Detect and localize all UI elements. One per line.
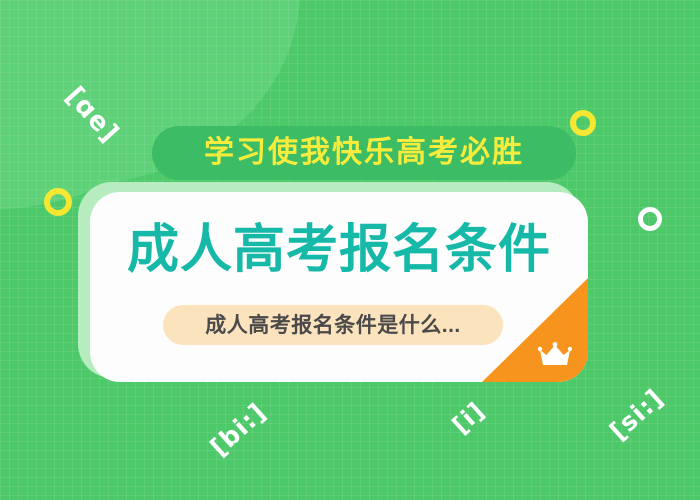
page-title: 成人高考报名条件 bbox=[90, 224, 588, 276]
poster-canvas: [ɑe] [bi:] [i] [si:] 学习使我快乐高考必胜 成人高考报名条件… bbox=[0, 0, 700, 500]
decorative-phonetic-text-4: [si:] bbox=[604, 383, 669, 446]
crown-icon bbox=[538, 342, 572, 368]
decorative-ring-yellow-left bbox=[44, 188, 72, 216]
decorative-ring-yellow-top bbox=[570, 110, 596, 136]
subtitle-pill: 成人高考报名条件是什么... bbox=[163, 305, 503, 345]
slogan-banner-text: 学习使我快乐高考必胜 bbox=[204, 138, 524, 168]
decorative-ring-white-right bbox=[638, 207, 662, 231]
subtitle-text: 成人高考报名条件是什么... bbox=[205, 315, 461, 336]
slogan-banner: 学习使我快乐高考必胜 bbox=[152, 126, 576, 180]
content-card: 成人高考报名条件 成人高考报名条件是什么... bbox=[90, 192, 588, 382]
decorative-phonetic-text-2: [bi:] bbox=[205, 397, 272, 462]
decorative-phonetic-text-3: [i] bbox=[447, 396, 490, 439]
